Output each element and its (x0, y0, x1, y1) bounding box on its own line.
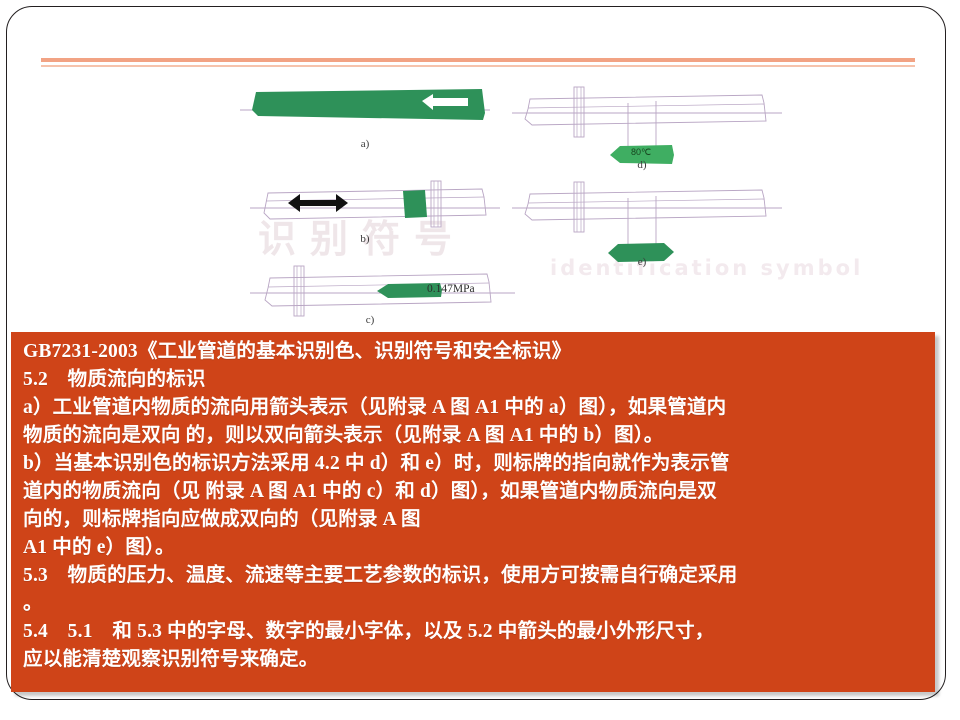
figure-d: 80℃ d) (512, 85, 782, 173)
figure-b-green-band (403, 190, 427, 218)
figure-b: b) (250, 175, 500, 245)
figure-c: 0.147MPa d) c) (250, 262, 515, 330)
text-line-5: 向的，则标牌指向应做成双向的（见附录 A 图 (23, 506, 925, 534)
figure-e-pipe-outline (525, 190, 766, 220)
figure-d-caption: d) (622, 159, 662, 171)
figure-a-caption: a) (345, 138, 385, 150)
divider-thick-line (41, 58, 915, 62)
figure-e-support (574, 182, 584, 232)
figure-d-pipe-outline (525, 95, 766, 125)
divider-thin-line (41, 65, 915, 67)
text-line-10: 应以能清楚观察识别符号来确定。 (23, 646, 925, 674)
standard-text-panel: GB7231-2003《工业管道的基本识别色、识别符号和安全标识》 5.2 物质… (11, 332, 935, 692)
text-line-0: 5.2 物质流向的标识 (23, 366, 925, 394)
header-divider (41, 58, 915, 68)
figure-b-support (431, 181, 441, 227)
text-line-7: 5.3 物质的压力、温度、流速等主要工艺参数的标识，使用方可按需自行确定采用 (23, 562, 925, 590)
slide-canvas: 识别符号 identification symbol a) (0, 0, 960, 720)
text-line-8: 。 (23, 590, 925, 618)
standard-title: GB7231-2003《工业管道的基本识别色、识别符号和安全标识》 (23, 338, 925, 366)
text-line-3: b）当基本识别色的标识方法采用 4.2 中 d）和 e）时，则标牌的指向就作为表… (23, 450, 925, 478)
text-line-4: 道内的物质流向（见 附录 A 图 A1 中的 c）和 d）图），如果管道内物质流… (23, 478, 925, 506)
figure-c-support (294, 266, 304, 316)
text-line-2: 物质的流向是双向 的，则以双向箭头表示（见附录 A 图 A1 中的 b）图）。 (23, 422, 925, 450)
figure-b-bidirectional-arrow-icon (288, 194, 348, 212)
text-line-9: 5.4 5.1 和 5.3 中的字母、数字的最小字体，以及 5.2 中箭头的最小… (23, 618, 925, 646)
text-line-1: a）工业管道内物质的流向用箭头表示（见附录 A 图 A1 中的 a）图），如果管… (23, 394, 925, 422)
figure-e: e) (512, 180, 782, 272)
figure-e-caption: e) (622, 256, 662, 268)
figure-c-pressure-label: 0.147MPa (427, 283, 475, 295)
text-line-6: A1 中的 e）图）。 (23, 534, 925, 562)
figure-d-temperature-label: 80℃ (631, 147, 651, 158)
figure-c-caption-visible: c) (350, 314, 390, 326)
figure-a: a) (240, 80, 490, 150)
figure-illustration-area: 识别符号 identification symbol a) (240, 80, 800, 320)
figure-b-caption: b) (345, 233, 385, 245)
figure-d-support (574, 87, 584, 137)
